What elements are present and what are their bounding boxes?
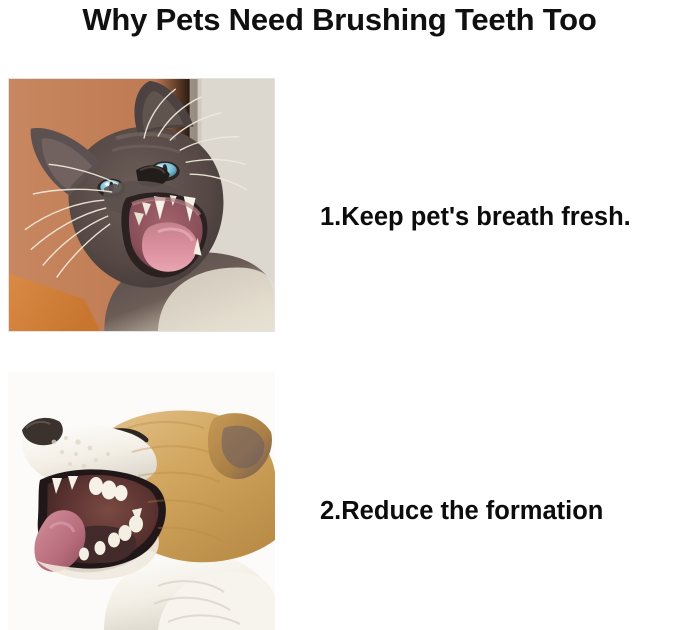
benefits-list: 1.Keep pet's breath fresh. 2.Reduce the … — [320, 92, 679, 630]
infographic-page: Why Pets Need Brushing Teeth Too — [0, 0, 679, 630]
cat-photo — [8, 78, 275, 332]
dog-illustration — [8, 372, 275, 630]
benefit-item-2: 2.Reduce the formation of calculus. — [320, 386, 679, 630]
benefit-item-1: 1.Keep pet's breath fresh. — [320, 92, 679, 342]
cat-illustration — [9, 79, 274, 331]
page-title: Why Pets Need Brushing Teeth Too — [0, 2, 679, 38]
dog-photo — [8, 372, 275, 630]
benefit-1-line-1: 1.Keep pet's breath fresh. — [320, 192, 679, 242]
benefit-2-line-1: 2.Reduce the formation — [320, 486, 679, 536]
